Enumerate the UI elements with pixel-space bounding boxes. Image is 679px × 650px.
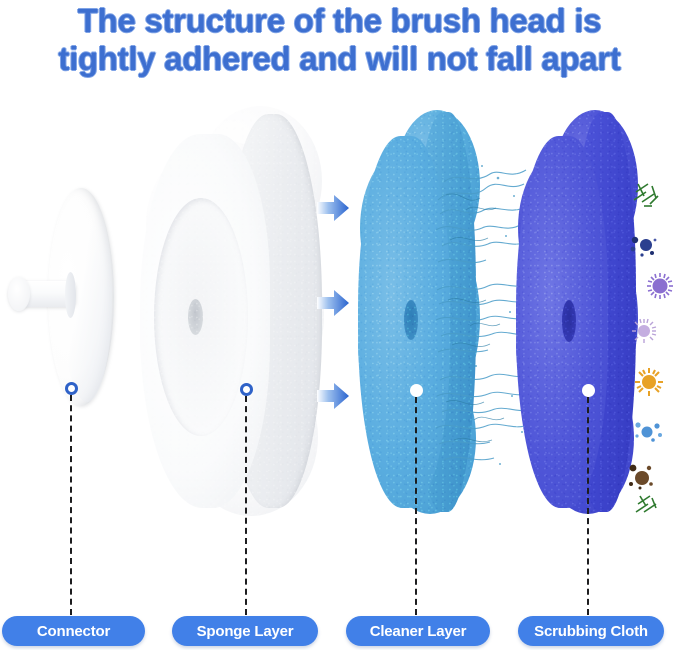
flow-arrow-icon [316,193,350,223]
leader-connector [70,395,72,615]
flow-arrow-icon [316,288,350,318]
label-pill-cleaner[interactable]: Cleaner Layer [346,616,490,646]
marker-scrub [582,384,595,397]
marker-connector [65,382,78,395]
label-text-connector: Connector [37,623,110,640]
germ-cluster [626,176,679,516]
germ-brown-cluster [629,465,653,490]
exploded-diagram [0,88,679,588]
label-text-cleaner: Cleaner Layer [370,623,467,640]
leader-cleaner [415,397,417,615]
connector-stem-collar [65,272,76,318]
leader-sponge [245,396,247,615]
germ-green-rods [634,184,658,206]
flow-arrow-icon [316,381,350,411]
germ-navy-cluster [631,237,657,257]
page-title: The structure of the brush head is tight… [0,2,679,78]
title-line-2: tightly adhered and will not fall apart [0,40,679,78]
label-pill-sponge[interactable]: Sponge Layer [172,616,318,646]
label-text-sponge: Sponge Layer [197,623,294,640]
sponge-body [140,106,345,516]
sponge-center-hole [188,299,203,335]
germ-green-rods-bottom [636,496,656,512]
connector-part [10,188,120,408]
leader-scrub [587,397,589,615]
scrub-center-hole [562,300,576,342]
title-line-1: The structure of the brush head is [0,2,679,40]
label-text-scrub: Scrubbing Cloth [534,623,648,640]
germ-orange-virus [635,368,663,396]
germ-purple-virus [647,273,673,299]
label-pill-scrub[interactable]: Scrubbing Cloth [518,616,664,646]
connector-stem-cap [8,277,30,311]
marker-sponge [240,383,253,396]
sponge-layer-part [140,106,345,516]
germ-lightblue-cluster [635,422,662,441]
label-pill-connector[interactable]: Connector [2,616,145,646]
marker-cleaner [410,384,423,397]
germ-lilac-virus [632,319,656,343]
cleaner-center-hole [404,300,418,340]
